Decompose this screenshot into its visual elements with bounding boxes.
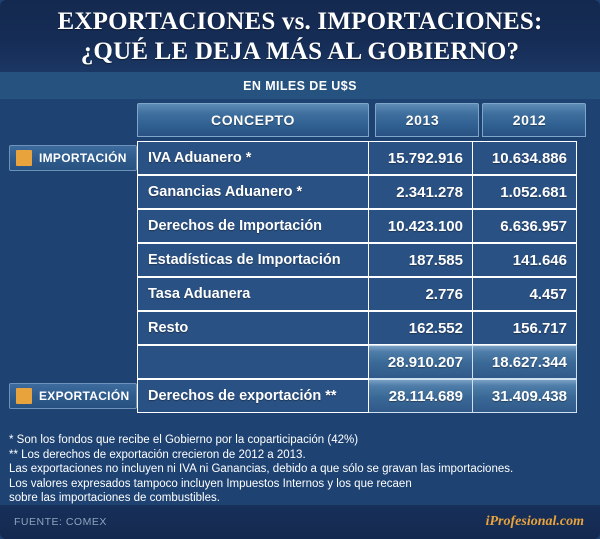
column-header-concepto: CONCEPTO <box>137 103 369 137</box>
footnote-line: ** Los derechos de exportación crecieron… <box>9 448 590 463</box>
side-spacer <box>0 175 137 209</box>
cell-2013: 187.585 <box>369 243 473 277</box>
page-title-line-1: EXPORTACIONES vs. IMPORTACIONES: <box>57 7 542 37</box>
cell-2013: 10.423.100 <box>369 209 473 243</box>
brand-logo: iProfesional.com <box>486 514 584 530</box>
cell-concept: Derechos de Importación <box>137 209 369 243</box>
page-title-line-2: ¿QUÉ LE DEJA MÁS AL GOBIERNO? <box>81 37 520 67</box>
cell-2012-value: 141.646 <box>513 252 567 269</box>
footnote-line: * Son los fondos que recibe el Gobierno … <box>9 433 590 448</box>
cell-concept: Estadísticas de Importación <box>137 243 369 277</box>
cell-concept-text: Resto <box>148 320 188 336</box>
source-label: FUENTE: COMEX <box>14 516 107 528</box>
cell-concept: Ganancias Aduanero * <box>137 175 369 209</box>
column-header-2012-label: 2012 <box>513 112 547 128</box>
footnotes: * Son los fondos que recibe el Gobierno … <box>0 427 600 505</box>
cell-2013-value: 187.585 <box>409 252 463 269</box>
column-header-2013-label: 2013 <box>406 112 440 128</box>
cell-concept-empty <box>137 345 369 379</box>
cell-2013-total: 28.910.207 <box>369 345 473 379</box>
column-header-2012: 2012 <box>482 103 586 137</box>
cell-2013-value: 10.423.100 <box>388 218 463 235</box>
cell-2012-value: 1.052.681 <box>500 184 567 201</box>
side-label-import-chip: IMPORTACIÓN <box>9 145 137 171</box>
column-header-concepto-label: CONCEPTO <box>211 112 295 128</box>
side-label-export-text: EXPORTACIÓN <box>39 389 129 403</box>
cell-2012: 6.636.957 <box>473 209 577 243</box>
table-row: Derechos de Importación 10.423.100 6.636… <box>0 209 600 243</box>
cell-2012-export-value: 31.409.438 <box>492 388 567 405</box>
infographic-root: EXPORTACIONES vs. IMPORTACIONES: ¿QUÉ LE… <box>0 0 600 539</box>
cell-2012-value: 10.634.886 <box>492 150 567 167</box>
cell-concept: IVA Aduanero * <box>137 141 369 175</box>
orange-square-icon <box>16 388 32 404</box>
cell-concept-text: Estadísticas de Importación <box>148 252 341 268</box>
data-table: CONCEPTO 2013 2012 IMPORTACIÓN IVA Aduan… <box>0 99 600 425</box>
cell-2012: 141.646 <box>473 243 577 277</box>
cell-2012: 156.717 <box>473 311 577 345</box>
side-spacer <box>0 345 137 379</box>
cell-2012-total-value: 18.627.344 <box>492 354 567 371</box>
cell-2013-value: 15.792.916 <box>388 150 463 167</box>
cell-2012-value: 156.717 <box>513 320 567 337</box>
side-label-import-text: IMPORTACIÓN <box>39 151 127 165</box>
footer-bar: FUENTE: COMEX iProfesional.com <box>0 505 600 539</box>
units-band: EN MILES DE U$S <box>0 72 600 99</box>
orange-square-icon <box>16 150 32 166</box>
cell-concept-text: Ganancias Aduanero * <box>148 184 302 200</box>
footnote-line: sobre las importaciones de combustibles. <box>9 491 590 506</box>
cell-2013: 162.552 <box>369 311 473 345</box>
cell-2012-value: 4.457 <box>529 286 567 303</box>
cell-concept-text: Derechos de Importación <box>148 218 322 234</box>
units-label: EN MILES DE U$S <box>243 79 357 93</box>
cell-2012: 1.052.681 <box>473 175 577 209</box>
footnote-line: Las exportaciones no incluyen ni IVA ni … <box>9 462 590 477</box>
title-block: EXPORTACIONES vs. IMPORTACIONES: ¿QUÉ LE… <box>0 0 600 72</box>
cell-concept-text: Tasa Aduanera <box>148 286 250 302</box>
column-header-2013: 2013 <box>375 103 479 137</box>
cell-concept: Tasa Aduanera <box>137 277 369 311</box>
cell-2013-value: 2.776 <box>425 286 463 303</box>
footnote-line: Los valores expresados tampoco incluyen … <box>9 477 590 492</box>
table-row: Resto 162.552 156.717 <box>0 311 600 345</box>
cell-2013-value: 162.552 <box>409 320 463 337</box>
side-spacer <box>0 277 137 311</box>
cell-2012: 4.457 <box>473 277 577 311</box>
cell-2013-total-value: 28.910.207 <box>388 354 463 371</box>
cell-concept-text: IVA Aduanero * <box>148 150 251 166</box>
table-row: Estadísticas de Importación 187.585 141.… <box>0 243 600 277</box>
cell-2013: 2.341.278 <box>369 175 473 209</box>
cell-2012-value: 6.636.957 <box>500 218 567 235</box>
table-row: Ganancias Aduanero * 2.341.278 1.052.681 <box>0 175 600 209</box>
table-row-total: 28.910.207 18.627.344 <box>0 345 600 379</box>
table-row: IMPORTACIÓN IVA Aduanero * 15.792.916 10… <box>0 141 600 175</box>
cell-2013-export-value: 28.114.689 <box>389 388 463 405</box>
cell-concept-text: Derechos de exportación ** <box>148 388 337 404</box>
cell-2013-export: 28.114.689 <box>369 379 473 413</box>
cell-concept: Resto <box>137 311 369 345</box>
cell-2012-export: 31.409.438 <box>473 379 577 413</box>
side-label-export-chip: EXPORTACIÓN <box>9 383 137 409</box>
side-label-import: IMPORTACIÓN <box>0 141 137 175</box>
header-side-spacer <box>0 103 137 137</box>
table-row: Tasa Aduanera 2.776 4.457 <box>0 277 600 311</box>
table-row-export: EXPORTACIÓN Derechos de exportación ** 2… <box>0 379 600 413</box>
side-spacer <box>0 209 137 243</box>
side-spacer <box>0 243 137 277</box>
cell-2013-value: 2.341.278 <box>396 184 463 201</box>
cell-2013: 15.792.916 <box>369 141 473 175</box>
side-label-export: EXPORTACIÓN <box>0 379 137 413</box>
cell-2012: 10.634.886 <box>473 141 577 175</box>
table-header-row: CONCEPTO 2013 2012 <box>0 103 600 137</box>
cell-concept: Derechos de exportación ** <box>137 379 369 413</box>
cell-2012-total: 18.627.344 <box>473 345 577 379</box>
side-spacer <box>0 311 137 345</box>
cell-2013: 2.776 <box>369 277 473 311</box>
